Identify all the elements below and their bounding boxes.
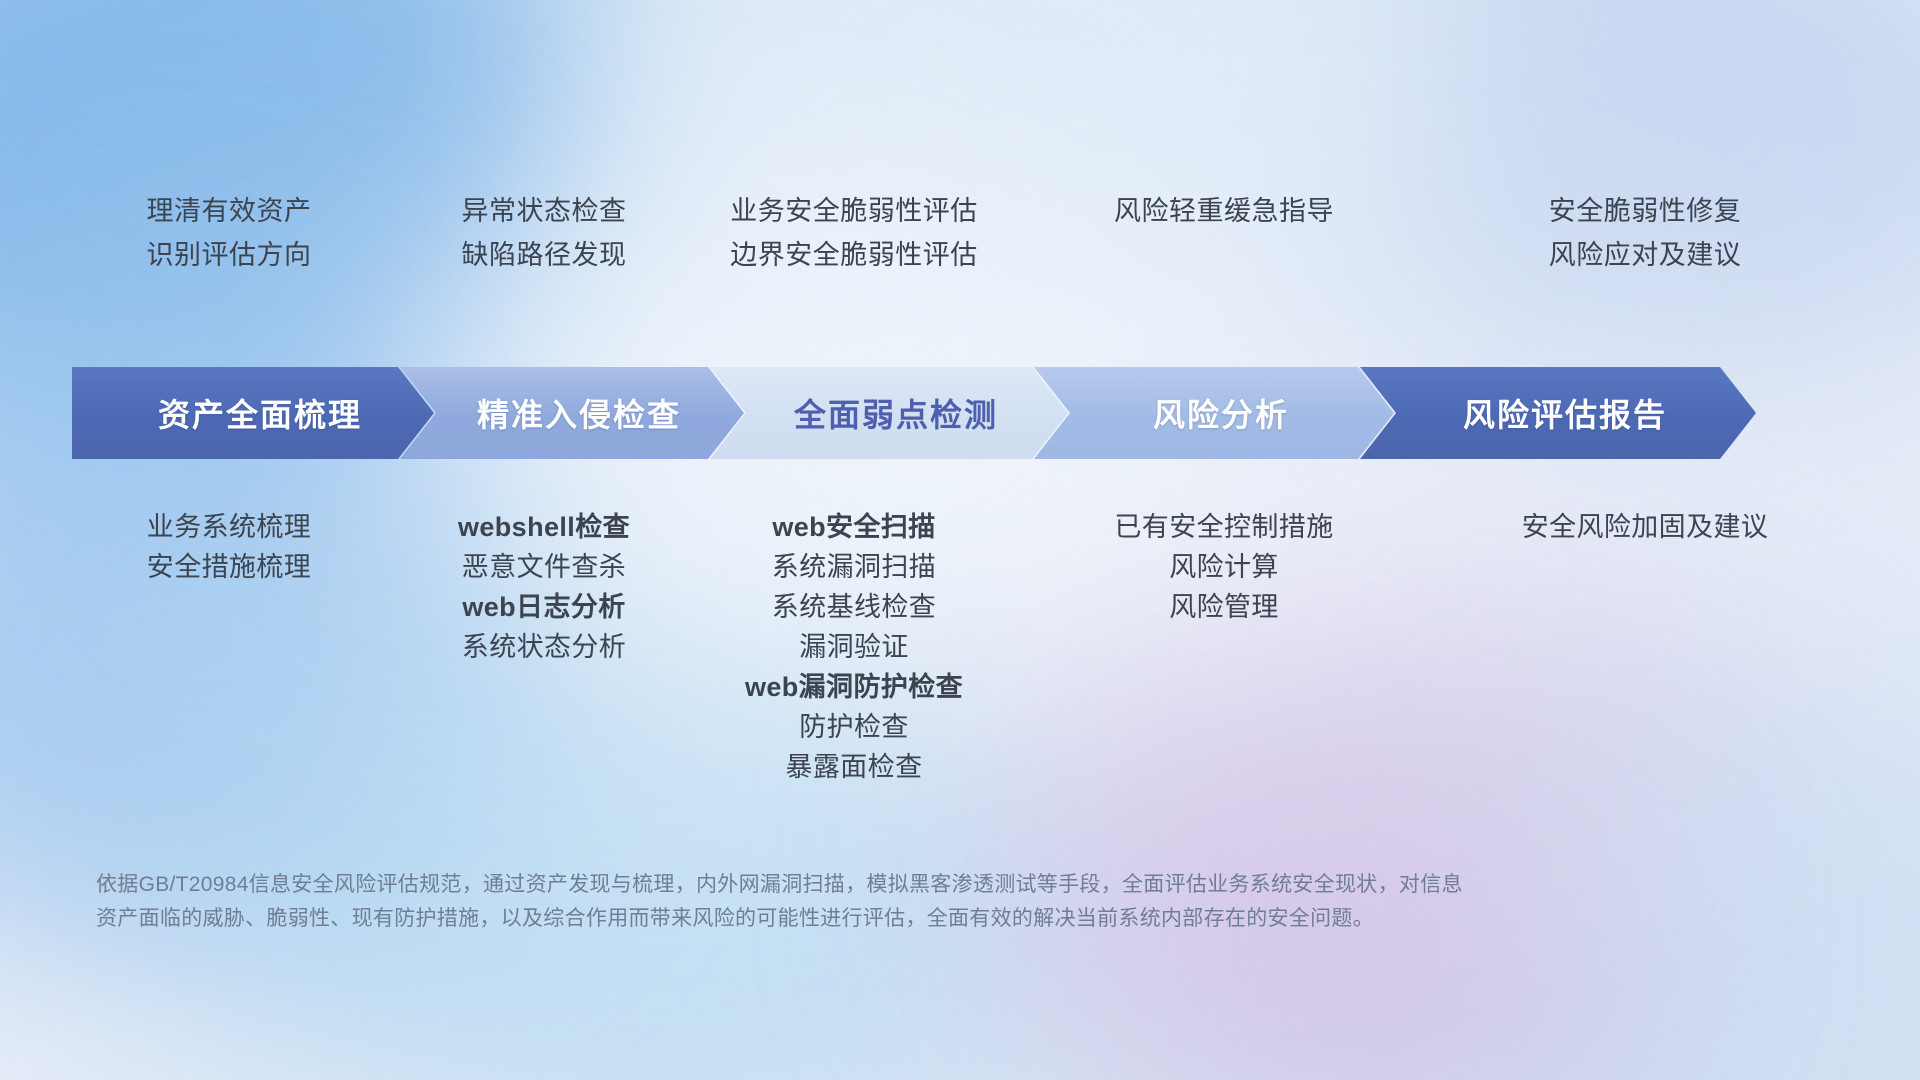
stage-arrow-label: 风险分析 <box>1139 390 1289 436</box>
stage-inputs-intrusion-check: 异常状态检查 缺陷路径发现 <box>394 190 694 277</box>
input-item: 边界安全脆弱性评估 <box>694 234 1014 278</box>
input-item: 风险轻重缓急指导 <box>1014 190 1434 234</box>
input-item: 理清有效资产 <box>64 190 394 234</box>
stage-inputs-asset-inventory: 理清有效资产 识别评估方向 <box>64 190 394 277</box>
output-item: 风险管理 <box>1014 588 1434 628</box>
stage-arrow-label: 全面弱点检测 <box>780 390 998 436</box>
output-item: 业务系统梳理 <box>64 508 394 548</box>
stage-arrow-intrusion-check[interactable]: 精准入侵检查 <box>400 367 744 459</box>
output-item: 系统状态分析 <box>394 628 694 668</box>
output-item: 安全风险加固及建议 <box>1434 508 1856 548</box>
description-line-1: 依据GB/T20984信息安全风险评估规范，通过资产发现与梳理，内外网漏洞扫描，… <box>96 868 1656 902</box>
stage-arrow-risk-report[interactable]: 风险评估报告 <box>1360 367 1756 459</box>
stage-arrow-label: 精准入侵检查 <box>463 390 681 436</box>
process-arrow-band: 资产全面梳理 精准入侵检查 全面弱点检测 风险分析 风险评估报告 <box>72 367 1856 459</box>
input-item: 业务安全脆弱性评估 <box>694 190 1014 234</box>
output-item: webshell检查 <box>394 508 694 548</box>
stage-arrow-label: 资产全面梳理 <box>144 390 362 436</box>
stage-inputs-row: 理清有效资产 识别评估方向 异常状态检查 缺陷路径发现 业务安全脆弱性评估 边界… <box>64 190 1856 277</box>
output-item: 恶意文件查杀 <box>394 548 694 588</box>
stage-outputs-weakness-detection: web安全扫描 系统漏洞扫描 系统基线检查 漏洞验证 web漏洞防护检查 防护检… <box>694 508 1014 788</box>
stage-outputs-risk-report: 安全风险加固及建议 <box>1434 508 1856 788</box>
output-item: web日志分析 <box>394 588 694 628</box>
stage-arrow-risk-analysis[interactable]: 风险分析 <box>1034 367 1394 459</box>
output-item: web漏洞防护检查 <box>694 668 1014 708</box>
slide-canvas: 理清有效资产 识别评估方向 异常状态检查 缺陷路径发现 业务安全脆弱性评估 边界… <box>0 0 1920 1080</box>
input-item: 风险应对及建议 <box>1434 234 1856 278</box>
output-item: 已有安全控制措施 <box>1014 508 1434 548</box>
description-paragraph: 依据GB/T20984信息安全风险评估规范，通过资产发现与梳理，内外网漏洞扫描，… <box>96 868 1656 936</box>
output-item: 暴露面检查 <box>694 748 1014 788</box>
input-item: 缺陷路径发现 <box>394 234 694 278</box>
stage-outputs-row: 业务系统梳理 安全措施梳理 webshell检查 恶意文件查杀 web日志分析 … <box>64 508 1856 788</box>
output-item: web安全扫描 <box>694 508 1014 548</box>
stage-inputs-risk-report: 安全脆弱性修复 风险应对及建议 <box>1434 190 1856 277</box>
stage-inputs-weakness-detection: 业务安全脆弱性评估 边界安全脆弱性评估 <box>694 190 1014 277</box>
stage-arrow-weakness-detection[interactable]: 全面弱点检测 <box>710 367 1068 459</box>
stage-inputs-risk-analysis: 风险轻重缓急指导 <box>1014 190 1434 277</box>
output-item: 漏洞验证 <box>694 628 1014 668</box>
stage-outputs-risk-analysis: 已有安全控制措施 风险计算 风险管理 <box>1014 508 1434 788</box>
stage-outputs-intrusion-check: webshell检查 恶意文件查杀 web日志分析 系统状态分析 <box>394 508 694 788</box>
input-item: 异常状态检查 <box>394 190 694 234</box>
input-item: 安全脆弱性修复 <box>1434 190 1856 234</box>
input-item: 识别评估方向 <box>64 234 394 278</box>
stage-arrow-asset-inventory[interactable]: 资产全面梳理 <box>72 367 434 459</box>
stage-arrow-label: 风险评估报告 <box>1449 390 1667 436</box>
output-item: 防护检查 <box>694 708 1014 748</box>
output-item: 系统基线检查 <box>694 588 1014 628</box>
output-item: 风险计算 <box>1014 548 1434 588</box>
description-line-2: 资产面临的威胁、脆弱性、现有防护措施，以及综合作用而带来风险的可能性进行评估，全… <box>96 902 1656 936</box>
output-item: 系统漏洞扫描 <box>694 548 1014 588</box>
output-item: 安全措施梳理 <box>64 548 394 588</box>
stage-outputs-asset-inventory: 业务系统梳理 安全措施梳理 <box>64 508 394 788</box>
